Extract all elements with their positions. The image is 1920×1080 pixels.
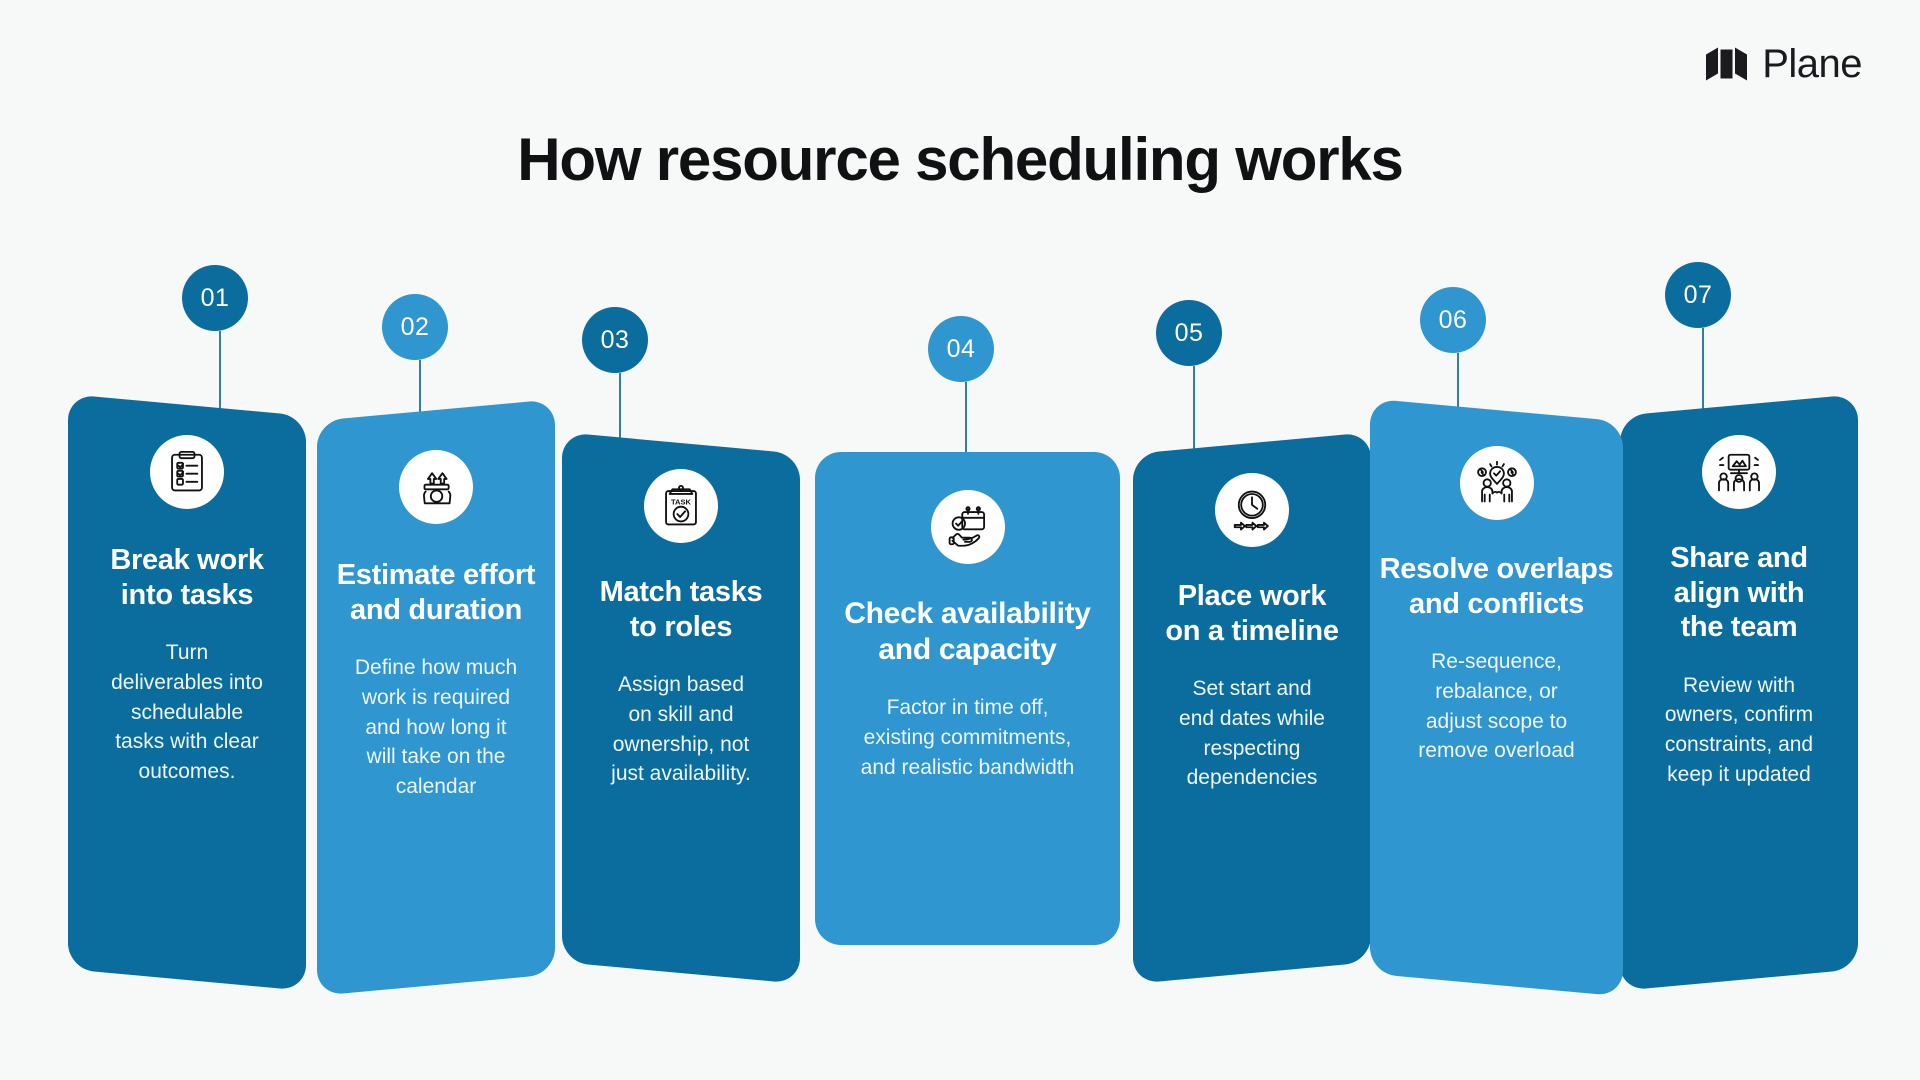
- hand-calendar-clock-icon: [931, 490, 1005, 564]
- step-description: Turn deliverables into schedulable tasks…: [111, 638, 263, 787]
- step-description: Review with owners, confirm constraints,…: [1665, 671, 1813, 790]
- step-number-badge[interactable]: 03: [582, 307, 648, 373]
- step-number-badge[interactable]: 02: [382, 294, 448, 360]
- step-description: Factor in time off, existing commitments…: [861, 693, 1075, 782]
- team-presentation-icon: [1702, 435, 1776, 509]
- step-card[interactable]: TASK Match tasks to rolesAssign based on…: [562, 432, 800, 984]
- step-number-badge[interactable]: 01: [182, 265, 248, 331]
- step-description: Define how much work is required and how…: [355, 653, 517, 802]
- step-connector-line: [965, 382, 967, 459]
- step-number-badge[interactable]: 04: [928, 316, 994, 382]
- step-description: Assign based on skill and ownership, not…: [611, 670, 751, 789]
- step-card[interactable]: Break work into tasksTurn deliverables i…: [68, 394, 306, 991]
- step-card[interactable]: Place work on a timelineSet start and en…: [1133, 432, 1371, 984]
- conflict-resolution-icon: [1460, 446, 1534, 520]
- steps-diagram: Break work into tasksTurn deliverables i…: [0, 0, 1920, 1080]
- step-number-badge[interactable]: 05: [1156, 300, 1222, 366]
- step-number-badge[interactable]: 07: [1665, 262, 1731, 328]
- task-clipboard-check-icon: TASK: [644, 469, 718, 543]
- step-card[interactable]: Estimate effort and durationDefine how m…: [317, 399, 555, 996]
- step-title: Check availability and capacity: [844, 596, 1090, 667]
- clock-arrows-icon: [1215, 473, 1289, 547]
- step-title: Share and align with the team: [1670, 541, 1808, 645]
- clipboard-checklist-icon: [150, 435, 224, 509]
- step-card[interactable]: Check availability and capacityFactor in…: [815, 452, 1120, 945]
- step-card[interactable]: Share and align with the teamReview with…: [1620, 394, 1858, 991]
- step-title: Match tasks to roles: [600, 575, 763, 644]
- step-title: Break work into tasks: [110, 543, 263, 612]
- step-title: Estimate effort and duration: [337, 558, 536, 627]
- step-title: Place work on a timeline: [1165, 579, 1338, 648]
- effort-capacity-icon: [399, 450, 473, 524]
- step-title: Resolve overlaps and conflicts: [1380, 552, 1614, 621]
- svg-text:TASK: TASK: [671, 497, 692, 506]
- step-number-badge[interactable]: 06: [1420, 287, 1486, 353]
- step-description: Set start and end dates while respecting…: [1179, 674, 1325, 793]
- step-card[interactable]: Resolve overlaps and conflictsRe-sequenc…: [1370, 398, 1623, 996]
- step-description: Re-sequence, rebalance, or adjust scope …: [1418, 647, 1574, 766]
